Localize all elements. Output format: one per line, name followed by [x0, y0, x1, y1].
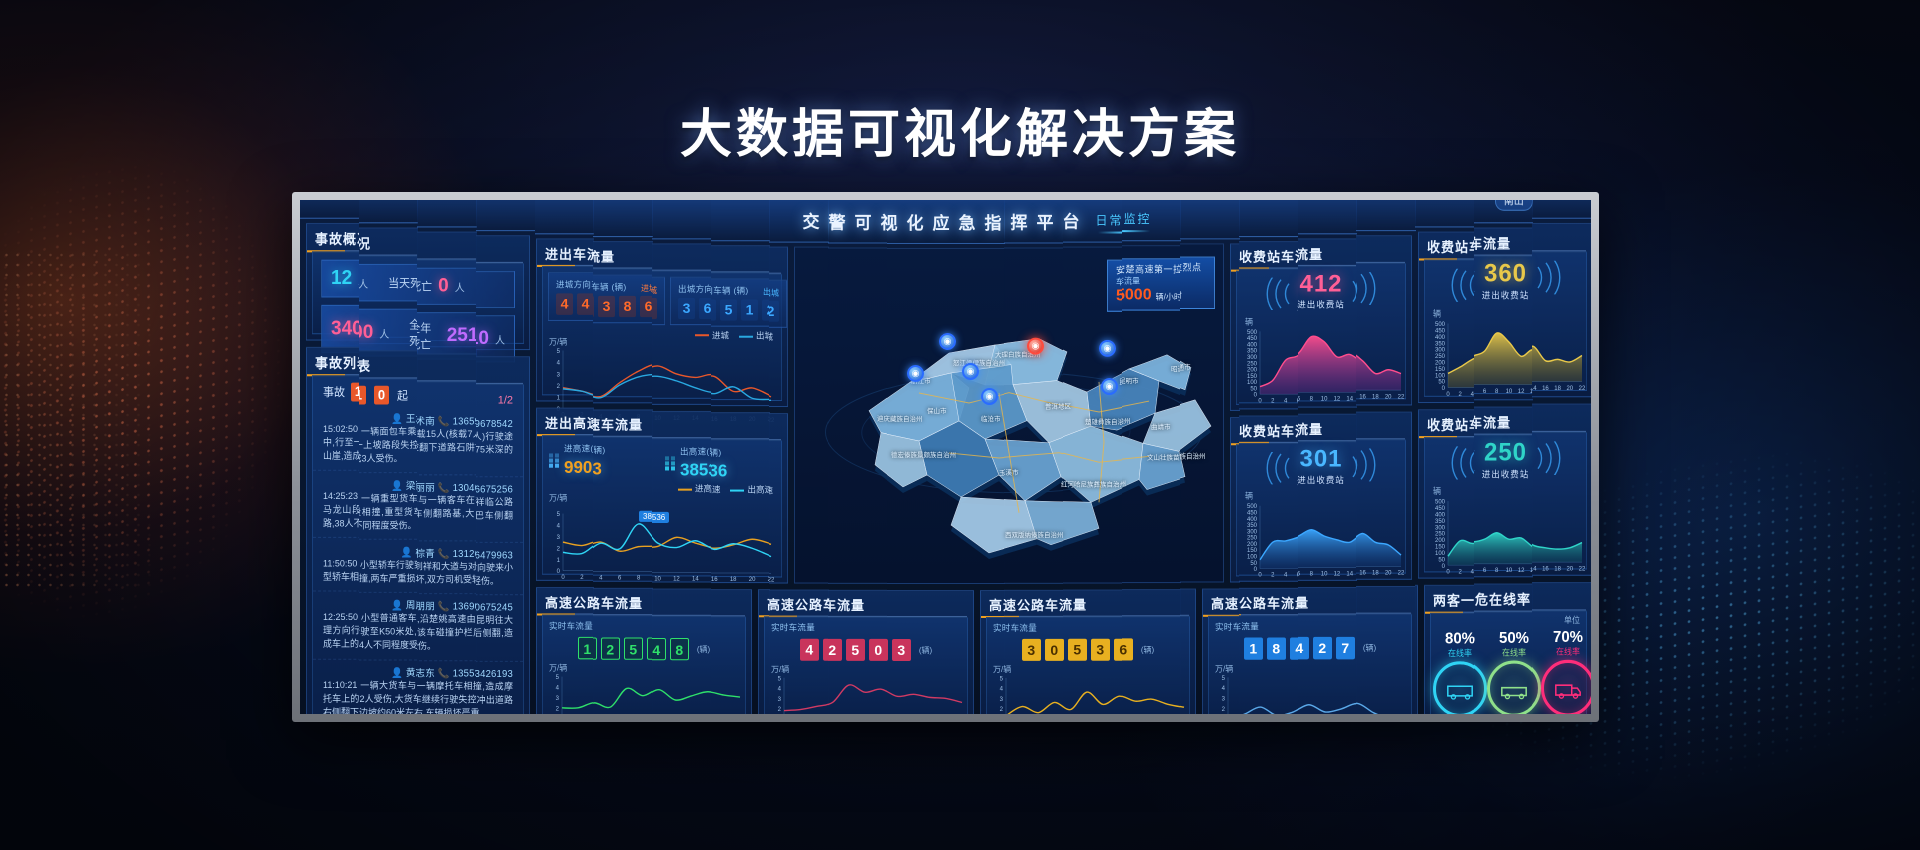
highway-0-body: 实时车流量12548(辆)万/辆012345024681012141618202… — [542, 614, 594, 714]
accident-list-item[interactable]: 👤 周朋朋 📞 1369067524512:25:50 小型普通客车,沿楚姚高速… — [417, 594, 476, 660]
legend-entry: 出城 — [739, 330, 770, 342]
panel-map[interactable]: 迪庆藏族自治州丽江市怒江傈僳族自治州大理白族自治州保山市德宏傣族景颇族自治州临沧… — [1122, 245, 1181, 583]
highway-chart: 0123450246810121416182022 — [887, 675, 946, 714]
highway-sub-label: 实时车流量 — [1180, 617, 1189, 633]
in-out-digit-strip: 36512 — [711, 300, 770, 321]
accident-item-text: 14:25:23 一辆重型货车与一辆客车在祥临公路马龙山段相撞,重型货车侧翻路基… — [476, 496, 513, 536]
in-out-digit-strip: 36512 — [769, 301, 779, 322]
accident-list-item[interactable]: 👤 王术南 📞 1365967854215:02:50 一辆面包车乘载15人(核… — [359, 407, 418, 474]
highway-in-out-body: 进高速(辆)9903出高速(辆)38536进高速出高速万/辆0123450246… — [769, 440, 782, 577]
map-marker-camera-icon[interactable]: ◉ — [907, 365, 924, 382]
dashboard-header: 交警可视化应急指挥平台 日常监控 南山 2018-0 — [476, 200, 535, 231]
signal-wave-icon — [1261, 452, 1298, 484]
highway-digit: 3 — [892, 639, 911, 661]
accident-list-body[interactable]: 事故10起1/2👤 王术南 📞 1365967854215:02:50 一辆面包… — [476, 384, 524, 714]
highway-in-out-title: 进出高速车流量 — [711, 413, 770, 440]
accident-list-item[interactable]: 👤 黄志东 📞 1355342619311:10:21 一辆大货车与一辆摩托车相… — [359, 660, 418, 714]
accident-death-unit: 人 — [455, 279, 465, 294]
highway-in-out-card: 出高速(辆)38536 — [665, 445, 711, 480]
accident-total-value: 3400 — [331, 317, 359, 340]
toll-chart: 0501001502002503003504004505000246810121… — [1298, 325, 1357, 404]
highway-2-title: 高速公路车流量 — [981, 591, 1005, 618]
highway-1-title: 高速公路车流量 — [769, 591, 828, 618]
in-out-card: 出城方向车辆 (辆)出城36512 — [711, 278, 770, 326]
accident-list-item[interactable]: 👤 周朋朋 📞 1369067524512:25:50 小型普通客车,沿楚姚高速… — [313, 592, 359, 659]
accident-total-unit: 人 — [359, 275, 368, 291]
accident-summary-title: 事故概况 — [417, 233, 476, 261]
toll-y-unit: 辆 — [1298, 314, 1357, 325]
legend-label: 出高速 — [769, 485, 773, 495]
legend-label: 进高速 — [695, 484, 711, 494]
in-out-y-unit: 万/辆 — [652, 340, 711, 351]
highway-in-out-card: 进高速(辆)9903 — [549, 442, 594, 478]
panel-accident-summary: 事故概况 12人当天死亡0人3400人全年死亡2510人 — [306, 223, 359, 341]
accident-item-text: 15:02:50 一辆面包车乘载15人(核载7人)行驶途中,行至一上坡路段失控翻… — [323, 422, 359, 463]
panel-highway-in-out: 进出高速车流量 进高速(辆)9903出高速(辆)38536进高速出高速万/辆01… — [769, 413, 788, 583]
map-canvas[interactable]: 迪庆藏族自治州丽江市怒江傈僳族自治州大理白族自治州保山市德宏傣族景颇族自治州临沧… — [828, 252, 887, 578]
in-out-cards: 进城方向车辆 (辆)进城44386出城方向车辆 (辆)出城36512 — [652, 272, 711, 325]
highway-chart: 0123450246810121416182022 — [1180, 674, 1189, 714]
map-region-label: 红河哈尼族彝族自治州 — [1063, 478, 1122, 488]
map-tooltip-value-row: 5000辆/小时 — [1122, 286, 1181, 304]
highway-in-out-cards: 进高速(辆)9903出高速(辆)38536 — [543, 436, 594, 478]
highway-in-out-value: 38536 — [680, 460, 711, 480]
map-region-label: 文山壮族苗族自治州 — [1180, 450, 1205, 460]
highway-in-out-y-unit: 万/辆 — [711, 496, 770, 507]
toll-y-unit: 辆 — [1239, 316, 1298, 327]
in-out-card: 出城方向车辆 (辆)出城36512 — [769, 280, 787, 328]
accident-list-item[interactable]: 👤 梁丽丽 📞 1304667525614:25:23 一辆重型货车与一辆客车在… — [476, 477, 523, 543]
highway-in-out-text: 进高速(辆)9903 — [593, 444, 605, 479]
accident-list-body[interactable]: 事故10起1/2👤 王术南 📞 1365967854215:02:50 一辆面包… — [312, 375, 359, 714]
panel-highway-1: 高速公路车流量 实时车流量42503(辆)万/辆0123450246810121… — [758, 589, 770, 714]
accident-reporter-name: 黄志东 — [417, 668, 437, 679]
panel-map[interactable]: 迪庆藏族自治州丽江市怒江傈僳族自治州大理白族自治州保山市德宏傣族景颇族自治州临沧… — [946, 248, 1005, 584]
map-region-label: 玉溪市 — [1004, 467, 1018, 477]
accident-total-unit: 人 — [379, 325, 389, 341]
map-region-label: 昆明市 — [1122, 375, 1139, 385]
highway-sub-label: 实时车流量 — [1209, 617, 1240, 633]
map-marker-camera-icon[interactable]: ◉ — [1099, 340, 1116, 357]
in-out-flow-body: 进城方向车辆 (辆)进城44386出城方向车辆 (辆)出城36512进城出城万/… — [593, 268, 652, 397]
accident-summary-body: 12人当天死亡0人3400人全年死亡2510人 — [359, 256, 418, 338]
accident-item-text: 15:02:50 一辆面包车乘载15人(核载7人)行驶途中,行至一上坡路段失控翻… — [476, 430, 513, 470]
in-out-digit-strip: 36512 — [678, 298, 711, 319]
highway-digit-unit: (辆) — [697, 644, 710, 655]
phone-icon: 📞 — [438, 483, 453, 494]
highway-digit-strip: 18427(辆) — [1209, 636, 1240, 663]
accident-item-text: 11:50:50 小型轿车行驶到祥和大道与对向驶来小型轿车相撞,两车严重损坏,双… — [359, 559, 418, 586]
panel-highway-1: 高速公路车流量 实时车流量42503(辆)万/辆0123450246810121… — [769, 590, 828, 714]
map-region-label: 楚雄彝族自治州 — [1085, 416, 1122, 426]
accident-list-item[interactable]: 👤 黄志东 📞 1355342619311:10:21 一辆大货车与一辆摩托车相… — [313, 659, 359, 714]
highway-sub-label: 实时车流量 — [652, 617, 711, 633]
highway-y-unit: 万/辆 — [887, 664, 946, 675]
accident-list-header: 事故10起1/2 — [417, 382, 476, 409]
highway-in-out-title: 进出高速车流量 — [652, 412, 711, 439]
legend-label: 出高速 — [747, 485, 770, 495]
accident-item-text: 15:02:50 一辆面包车乘载15人(核载7人)行驶途中,行至一上坡路段失控翻… — [359, 425, 418, 466]
in-out-flow-body: 进城方向车辆 (辆)进城44386出城方向车辆 (辆)出城36512进城出城万/… — [652, 271, 711, 399]
tab-daily-monitor[interactable]: 日常监控 — [1122, 210, 1152, 227]
dashboard-title: 交警可视化应急指挥平台 — [1063, 207, 1089, 232]
accident-list-item[interactable]: 👤 棕青 📞 1312647996311:50:50 小型轿车行驶到祥和大道与对… — [359, 540, 418, 593]
highway-2-title: 高速公路车流量 — [1180, 590, 1195, 617]
accident-reporter-phone: 13126479963 — [453, 549, 477, 560]
in-out-y-unit: 万/辆 — [711, 342, 770, 353]
phone-icon: 📞 — [438, 602, 453, 613]
accident-total-value: 3400 — [359, 321, 374, 344]
highway-in-out-body: 进高速(辆)9903出高速(辆)38536进高速出高速万/辆0123450246… — [593, 437, 652, 576]
highway-y-unit: 万/辆 — [828, 664, 887, 675]
highway-digit-strip: 18427(辆) — [1239, 635, 1298, 662]
accident-death-label: 当天死亡 — [388, 274, 418, 291]
map-tooltip: 安楚高速第一拉烈点车流量5000辆/小时 — [1122, 258, 1181, 310]
panel-map[interactable]: 迪庆藏族自治州丽江市怒江傈僳族自治州大理白族自治州保山市德宏傣族景颇族自治州临沧… — [794, 247, 829, 584]
highway-in-out-card: 出高速(辆)38536 — [711, 446, 770, 481]
accident-reporter-name: 梁丽丽 — [406, 481, 418, 492]
dashboard-header: 交警可视化应急指挥平台 日常监控 南山 2018-0 — [1004, 200, 1063, 243]
highway-0-body: 实时车流量12548(辆)万/辆012345024681012141618202… — [711, 616, 746, 714]
panel-highway-2: 高速公路车流量 实时车流量30536(辆)万/辆0123450246810121… — [1122, 589, 1181, 714]
panel-map[interactable]: 迪庆藏族自治州丽江市怒江傈僳族自治州大理白族自治州保山市德宏傣族景颇族自治州临沧… — [1004, 247, 1063, 583]
highway-digit: 2 — [601, 638, 620, 660]
map-canvas[interactable]: 迪庆藏族自治州丽江市怒江傈僳族自治州大理白族自治州保山市德宏傣族景颇族自治州临沧… — [1004, 252, 1063, 578]
panel-accident-list: 事故列表 事故10起1/2👤 王术南 📞 1365967854215:02:50… — [359, 350, 418, 714]
highway-in-out-card: 进高速(辆)9903 — [652, 445, 659, 480]
accident-list-item[interactable]: 👤 王术南 📞 1365967854215:02:50 一辆面包车乘载15人(核… — [313, 404, 359, 471]
highway-chart: 0123450246810121416182022 — [1239, 674, 1298, 714]
map-region-label: 西双版纳傣族自治州 — [1063, 528, 1064, 538]
in-out-y-unit: 万/辆 — [769, 343, 781, 354]
highway-in-out-label: 进高速(辆) — [564, 442, 594, 454]
highway-digit: 1 — [593, 638, 596, 660]
accident-item-meta: 👤 黄志东 📞 13553426193 — [359, 664, 418, 679]
highway-digit: 3 — [1091, 639, 1110, 661]
in-out-digit-strip: 44386 — [556, 293, 594, 314]
highway-y-unit: 万/辆 — [1209, 663, 1240, 674]
accident-summary-row: 12人当天死亡0人 — [359, 264, 418, 301]
in-out-cards: 进城方向车辆 (辆)进城44386出城方向车辆 (辆)出城36512 — [711, 273, 770, 326]
highway-1-title: 高速公路车流量 — [887, 591, 946, 618]
accident-item-meta: 👤 棕青 📞 13126479963 — [323, 542, 359, 557]
map-marker-camera-icon[interactable]: ◉ — [962, 363, 979, 380]
highway-chart: 0123450246810121416182022 — [946, 675, 968, 714]
map-tooltip-unit: 辆/小时 — [1156, 291, 1181, 302]
highway-2-title: 高速公路车流量 — [1004, 591, 1063, 618]
highway-y-unit: 万/辆 — [1239, 663, 1298, 674]
highway-in-out-legend: 进高速出高速 — [543, 478, 594, 492]
highway-1-title: 高速公路车流量 — [759, 590, 770, 617]
highway-in-out-chart: 012345024681012141618202238536 — [652, 506, 711, 585]
dashboard-header: 交警可视化应急指挥平台 日常监控 南山 2018-0 — [1122, 200, 1181, 241]
signal-wave-icon — [1261, 278, 1298, 310]
highway-y-unit: 万/辆 — [1122, 664, 1181, 675]
accident-list-title: 事故列表 — [476, 357, 529, 385]
person-icon: 👤 — [391, 667, 406, 678]
accident-list-item[interactable]: 👤 周朋朋 📞 1369067524512:25:50 小型普通客车,沿楚姚高速… — [476, 596, 523, 662]
accident-item-text: 11:10:21 一辆大货车与一辆摩托车相撞,造成摩托车上的2人受伤,大货车继续… — [323, 678, 359, 714]
panel-highway-0: 高速公路车流量 实时车流量12548(辆)万/辆0123450246810121… — [536, 587, 594, 714]
highway-sub-label: 实时车流量 — [593, 616, 652, 632]
video-wall: 交警可视化应急指挥平台 日常监控 南山 2018-0 事故概况 12人当天死亡0… — [292, 192, 1599, 722]
dashboard-title: 交警可视化应急指挥平台 — [887, 209, 946, 234]
in-out-digit: 4 — [556, 293, 573, 314]
highway-digit-strip: 30536(辆) — [1180, 636, 1189, 663]
in-out-card-head: 进城方向车辆 (辆)进城 — [652, 283, 657, 298]
accident-death-value: 2510 — [476, 328, 489, 351]
highway-sub-label: 实时车流量 — [1004, 618, 1063, 634]
highway-digit: 4 — [800, 639, 819, 661]
dashboard-header: 交警可视化应急指挥平台 日常监控 南山 2018-0 — [300, 200, 359, 219]
highway-digit: 8 — [1267, 638, 1286, 660]
legend-entry: 进高速 — [678, 483, 711, 495]
highway-sub-label: 实时车流量 — [1063, 618, 1122, 634]
accident-summary-title: 事故概况 — [307, 224, 359, 252]
accident-list-body[interactable]: 事故10起1/2👤 王术南 📞 1365967854215:02:50 一辆面包… — [359, 378, 418, 714]
highway-in-out-body: 进高速(辆)9903出高速(辆)38536进高速出高速万/辆0123450246… — [542, 435, 594, 575]
accident-death-value: 2510 — [447, 325, 477, 348]
accident-reporter-name: 梁丽丽 — [417, 483, 437, 494]
legend-entry: 出高速 — [730, 484, 770, 496]
highway-in-out-value: 9903 — [564, 458, 594, 478]
dashboard-header: 交警可视化应急指挥平台 日常监控 南山 2018-0 — [1239, 200, 1298, 237]
accident-item-meta: 👤 棕青 📞 13126479963 — [476, 547, 513, 561]
in-out-flow-body: 进城方向车辆 (辆)进城44386出城方向车辆 (辆)出城36512进城出城万/… — [711, 272, 770, 400]
dashboard-header: 交警可视化应急指挥平台 日常监控 南山 2018-0 — [535, 200, 594, 234]
accident-item-meta: 👤 周朋朋 📞 13690675245 — [417, 599, 476, 613]
highway-2-body: 实时车流量30536(辆)万/辆012345024681012141618202… — [1063, 617, 1122, 714]
map-tooltip-value: 5000 — [1122, 286, 1152, 304]
highway-y-unit: 万/辆 — [652, 663, 711, 674]
highway-digit-strip: 42503(辆) — [769, 637, 828, 664]
in-out-card-tag: 出城 — [769, 288, 779, 299]
dashboard-header: 交警可视化应急指挥平台 日常监控 南山 2018-0 — [593, 200, 652, 237]
highway-y-unit: 万/辆 — [593, 663, 652, 674]
highway-y-unit: 万/辆 — [946, 664, 968, 675]
accident-item-meta: 👤 梁丽丽 📞 13046675256 — [359, 477, 418, 492]
accident-list-item[interactable]: 👤 王术南 📞 1365967854215:02:50 一辆面包车乘载15人(核… — [417, 409, 476, 475]
accident-list-item[interactable]: 👤 黄志东 📞 1355342619311:10:21 一辆大货车与一辆摩托车相… — [417, 661, 476, 714]
highway-digit: 2 — [828, 639, 842, 661]
highway-chart: 0123450246810121416182022 — [769, 675, 828, 714]
highway-chart: 0123450246810121416182022 — [1122, 675, 1181, 714]
accident-list-item[interactable]: 👤 梁丽丽 📞 1304667525614:25:23 一辆重型货车与一辆客车在… — [359, 473, 418, 540]
accident-summary-row: 12人当天死亡0人 — [476, 271, 515, 308]
in-out-digit: 6 — [652, 298, 657, 319]
highway-digit-strip: 12548(辆) — [593, 635, 652, 662]
highway-digit: 6 — [1122, 638, 1133, 660]
chart-annotation: 38536 — [652, 512, 669, 523]
highway-sub-label: 实时车流量 — [946, 618, 968, 634]
dashboard-header: 交警可视化应急指挥平台 日常监控 南山 2018-0 — [652, 200, 711, 239]
accident-reporter-phone: 13553426193 — [453, 668, 477, 679]
highway-digit-strip: 30536(辆) — [1004, 637, 1063, 664]
in-out-legend: 进城出城 — [543, 321, 594, 336]
tab-daily-monitor[interactable]: 日常监控 — [1096, 211, 1123, 228]
accident-item-text: 14:25:23 一辆重型货车与一辆客车在祥临公路马龙山段相撞,重型货车侧翻路基… — [359, 492, 418, 533]
highway-2-title: 高速公路车流量 — [1063, 591, 1122, 618]
panel-map[interactable]: 迪庆藏族自治州丽江市怒江傈僳族自治州大理白族自治州保山市德宏傣族景颇族自治州临沧… — [1180, 243, 1224, 582]
accident-summary-body: 12人当天死亡0人3400人全年死亡2510人 — [417, 259, 476, 341]
accident-reporter-phone: 13046675256 — [476, 485, 513, 496]
panel-highway-3: 高速公路车流量 实时车流量18427(辆)万/辆0123450246810121… — [1202, 589, 1240, 714]
dashboard-title: 交警可视化应急指挥平台 — [1004, 208, 1063, 233]
map-region-label: 昭通市 — [1180, 361, 1190, 371]
map-canvas[interactable]: 迪庆藏族自治州丽江市怒江傈僳族自治州大理白族自治州保山市德宏傣族景颇族自治州临沧… — [1122, 250, 1181, 578]
highway-sub-label: 实时车流量 — [828, 618, 887, 634]
highway-chart: 0123450246810121416182022 — [987, 675, 1005, 714]
highway-digit: 5 — [846, 639, 865, 661]
highway-y-unit: 万/辆 — [769, 664, 828, 675]
accident-item-meta: 👤 梁丽丽 📞 13046675256 — [476, 481, 513, 495]
legend-entry: 出高速 — [769, 484, 773, 496]
toll-y-unit: 辆 — [1298, 489, 1357, 500]
panel-map[interactable]: 迪庆藏族自治州丽江市怒江傈僳族自治州大理白族自治州保山市德宏傣族景颇族自治州临沧… — [887, 248, 946, 584]
toll-value: 412 — [1299, 270, 1342, 299]
accident-list-item[interactable]: 👤 黄志东 📞 1355342619311:10:21 一辆大货车与一辆摩托车相… — [476, 661, 523, 714]
in-out-digit: 3 — [678, 298, 695, 319]
panel-toll-2: 收费站车流量 301进出收费站辆050100150200250300350400… — [1239, 415, 1298, 581]
map-canvas[interactable]: 迪庆藏族自治州丽江市怒江傈僳族自治州大理白族自治州保山市德宏傣族景颇族自治州临沧… — [946, 253, 1005, 579]
highway-in-out-card: 出高速(辆)38536 — [769, 447, 775, 482]
highway-in-out-body: 进高速(辆)9903出高速(辆)38536进高速出高速万/辆0123450246… — [652, 438, 711, 576]
highway-in-out-legend: 进高速出高速 — [652, 481, 711, 495]
panel-map[interactable]: 迪庆藏族自治州丽江市怒江傈僳族自治州大理白族自治州保山市德宏傣族景颇族自治州临沧… — [1063, 247, 1122, 584]
in-out-digit: 1 — [741, 300, 758, 321]
toll-chart: 0501001502002503003504004505000246810121… — [1298, 500, 1357, 579]
accident-item-text: 11:50:50 小型轿车行驶到祥和大道与对向驶来小型轿车相撞,两车严重损坏,双… — [417, 560, 476, 587]
toll-0-title: 收费站车流量 — [1239, 242, 1298, 269]
accident-item-meta: 👤 棕青 📞 13126479963 — [417, 546, 476, 560]
map-canvas[interactable]: 迪庆藏族自治州丽江市怒江傈僳族自治州大理白族自治州保山市德宏傣族景颇族自治州临沧… — [887, 253, 946, 579]
accident-reporter-phone: 13126479963 — [476, 550, 513, 561]
person-icon: 👤 — [391, 481, 406, 492]
highway-1-body: 实时车流量42503(辆)万/辆012345024681012141618202… — [946, 617, 969, 714]
map-region-label: 曲靖市 — [1151, 421, 1171, 431]
highway-1-body: 实时车流量42503(辆)万/辆012345024681012141618202… — [887, 617, 946, 714]
legend-label: 出城 — [756, 331, 770, 341]
accident-reporter-name: 王术南 — [406, 414, 418, 425]
accident-list-item[interactable]: 👤 梁丽丽 📞 1304667525614:25:23 一辆重型货车与一辆客车在… — [417, 475, 476, 541]
accident-list-item[interactable]: 👤 棕青 📞 1312647996311:50:50 小型轿车行驶到祥和大道与对… — [476, 543, 523, 595]
highway-3-body: 实时车流量18427(辆)万/辆012345024681012141618202… — [1208, 616, 1240, 714]
person-icon: 👤 — [401, 547, 416, 558]
highway-chart: 0123450246810121416182022 — [1063, 675, 1122, 714]
legend-swatch — [678, 488, 692, 490]
accident-list-item[interactable]: 👤 王术南 📞 1365967854215:02:50 一辆面包车乘载15人(核… — [476, 412, 523, 478]
in-out-card-tag: 进城 — [652, 285, 657, 296]
accident-item-meta: 👤 王术南 📞 13659678542 — [323, 408, 359, 423]
accident-list-item[interactable]: 👤 棕青 📞 1312647996311:50:50 小型轿车行驶到祥和大道与对… — [313, 538, 359, 592]
map-marker-camera-icon[interactable]: ◉ — [981, 388, 998, 405]
accident-death-unit: 人 — [495, 331, 505, 346]
map-canvas[interactable]: 迪庆藏族自治州丽江市怒江傈僳族自治州大理白族自治州保山市德宏傣族景颇族自治州临沧… — [1063, 252, 1122, 579]
dashboard-header: 交警可视化应急指挥平台 日常监控 南山 2018-0 — [1063, 200, 1122, 243]
accident-item-meta: 👤 王术南 📞 13659678542 — [359, 411, 418, 426]
accident-reporter-name: 棕青 — [417, 549, 437, 560]
accident-summary-body: 12人当天死亡0人3400人全年死亡2510人 — [476, 263, 524, 344]
highway-y-unit: 万/辆 — [987, 664, 1005, 675]
in-out-y-unit: 万/辆 — [593, 338, 652, 349]
map-marker-alert-icon[interactable]: ◉ — [1027, 338, 1044, 355]
dashboard-header: 交警可视化应急指挥平台 日常监控 南山 2018-0 — [711, 200, 770, 241]
panel-toll-0: 收费站车流量 412进出收费站辆050100150200250300350400… — [1239, 241, 1298, 409]
accident-item-text: 12:25:50 小型普通客车,沿楚姚高速由昆明往大理方向行驶至K50米处,该车… — [359, 612, 418, 653]
highway-in-out-text: 出高速(辆)38536 — [711, 446, 728, 481]
accident-item-meta: 👤 黄志东 📞 13553426193 — [476, 665, 513, 679]
highway-digit-strip: 42503(辆) — [887, 637, 946, 664]
dashboard-screen: 交警可视化应急指挥平台 日常监控 南山 2018-0 事故概况 12人当天死亡0… — [300, 200, 1591, 714]
map-region-label: 文山壮族苗族自治州 — [1147, 451, 1181, 461]
toll-2-title: 收费站车流量 — [1298, 415, 1357, 443]
in-out-digit: 4 — [593, 296, 594, 317]
highway-in-out-body: 进高速(辆)9903出高速(辆)38536进高速出高速万/辆0123450246… — [711, 439, 770, 577]
highway-2-body: 实时车流量30536(辆)万/辆012345024681012141618202… — [1122, 616, 1181, 714]
toll-0-title: 收费站车流量 — [1298, 239, 1357, 267]
panel-in-out-flow: 进出车流量 进城方向车辆 (辆)进城44386出城方向车辆 (辆)出城36512… — [652, 243, 711, 404]
map-canvas[interactable]: 迪庆藏族自治州丽江市怒江傈僳族自治州大理白族自治州保山市德宏傣族景颇族自治州临沧… — [799, 252, 829, 579]
panel-map[interactable]: 迪庆藏族自治州丽江市怒江傈僳族自治州大理白族自治州保山市德宏傣族景颇族自治州临沧… — [828, 247, 887, 583]
highway-chart: 0123450246810121416182022 — [652, 674, 711, 714]
toll-sub-label: 进出收费站 — [1298, 474, 1345, 486]
accident-item-text: 14:25:23 一辆重型货车与一辆客车在祥临公路马龙山段相撞,重型货车侧翻路基… — [323, 490, 359, 531]
in-out-digit: 6 — [699, 298, 711, 319]
accident-item-text: 14:25:23 一辆重型货车与一辆客车在祥临公路马龙山段相撞,重型货车侧翻路基… — [417, 494, 476, 534]
in-out-card-label: 出城方向车辆 (辆) — [711, 284, 749, 296]
map-region-label: 保山市 — [946, 405, 947, 415]
accident-reporter-name: 周朋朋 — [406, 601, 418, 612]
in-out-legend: 进城出城 — [711, 327, 770, 342]
panel-highway-3: 高速公路车流量 实时车流量18427(辆)万/辆0123450246810121… — [1239, 588, 1298, 714]
accident-list-item[interactable]: 👤 梁丽丽 📞 1304667525614:25:23 一辆重型货车与一辆客车在… — [313, 471, 359, 538]
in-out-flow-title: 进出车流量 — [537, 239, 594, 267]
accident-item-text: 12:25:50 小型普通客车,沿楚姚高速由昆明往大理方向行驶至K50米处,该车… — [417, 613, 476, 653]
accident-item-text: 11:50:50 小型轿车行驶到祥和大道与对向驶来小型轿车相撞,两车严重损坏,双… — [476, 562, 513, 589]
accident-item-text: 11:10:21 一辆大货车与一辆摩托车相撞,造成摩托车上的2人受伤,大货车继续… — [476, 680, 513, 714]
accident-count-digit: 1 — [359, 386, 366, 405]
in-out-card-head: 出城方向车辆 (辆)出城 — [711, 284, 770, 299]
panel-highway-2: 高速公路车流量 实时车流量30536(辆)万/辆0123450246810121… — [1180, 589, 1196, 714]
map-canvas[interactable]: 迪庆藏族自治州丽江市怒江傈僳族自治州大理白族自治州保山市德宏傣族景颇族自治州临沧… — [1180, 248, 1219, 577]
accident-reporter-name: 黄志东 — [406, 667, 418, 678]
panel-highway-0: 高速公路车流量 实时车流量12548(辆)万/辆0123450246810121… — [652, 589, 711, 714]
accident-reporter-phone: 13690675245 — [476, 603, 513, 614]
accident-list-pager[interactable]: 1/2 — [498, 394, 513, 406]
map-tooltip: 安楚高速第一拉烈点车流量5000辆/小时 — [1107, 260, 1122, 312]
panel-highway-in-out: 进出高速车流量 进高速(辆)9903出高速(辆)38536进高速出高速万/辆01… — [593, 409, 652, 581]
highway-in-out-value: 38536 — [711, 461, 728, 481]
panel-highway-1: 高速公路车流量 实时车流量42503(辆)万/辆0123450246810121… — [828, 590, 887, 714]
accident-list-item[interactable]: 👤 周朋朋 📞 1369067524512:25:50 小型普通客车,沿楚姚高速… — [359, 593, 418, 660]
toll-2-body: 301进出收费站辆0501001502002503003504004505000… — [1239, 443, 1298, 576]
accident-item-meta: 👤 王术南 📞 13659678542 — [417, 413, 476, 427]
accident-reporter-phone: 13690675245 — [453, 602, 477, 613]
accident-list-title: 事故列表 — [307, 348, 359, 376]
map-marker-camera-icon[interactable]: ◉ — [1101, 378, 1118, 395]
highway-in-out-title: 进出高速车流量 — [537, 409, 594, 437]
accident-list-item[interactable]: 👤 棕青 📞 1312647996311:50:50 小型轿车行驶到祥和大道与对… — [417, 542, 476, 595]
highway-0-body: 实时车流量12548(辆)万/辆012345024681012141618202… — [593, 615, 652, 714]
highway-chart: 0123450246810121416182022 — [711, 675, 745, 714]
map-region-label: 德宏傣族景颇族自治州 — [946, 449, 957, 459]
in-out-card: 进城方向车辆 (辆)进城44386 — [593, 275, 652, 324]
accident-list-body[interactable]: 事故10起1/2👤 王术南 📞 1365967854215:02:50 一辆面包… — [417, 381, 476, 714]
highway-chart: 0123450246810121416182022 — [593, 674, 652, 714]
highway-0-title: 高速公路车流量 — [537, 588, 594, 616]
highway-in-out-legend: 进高速出高速 — [593, 479, 652, 493]
panel-highway-1: 高速公路车流量 实时车流量42503(辆)万/辆0123450246810121… — [887, 590, 946, 714]
